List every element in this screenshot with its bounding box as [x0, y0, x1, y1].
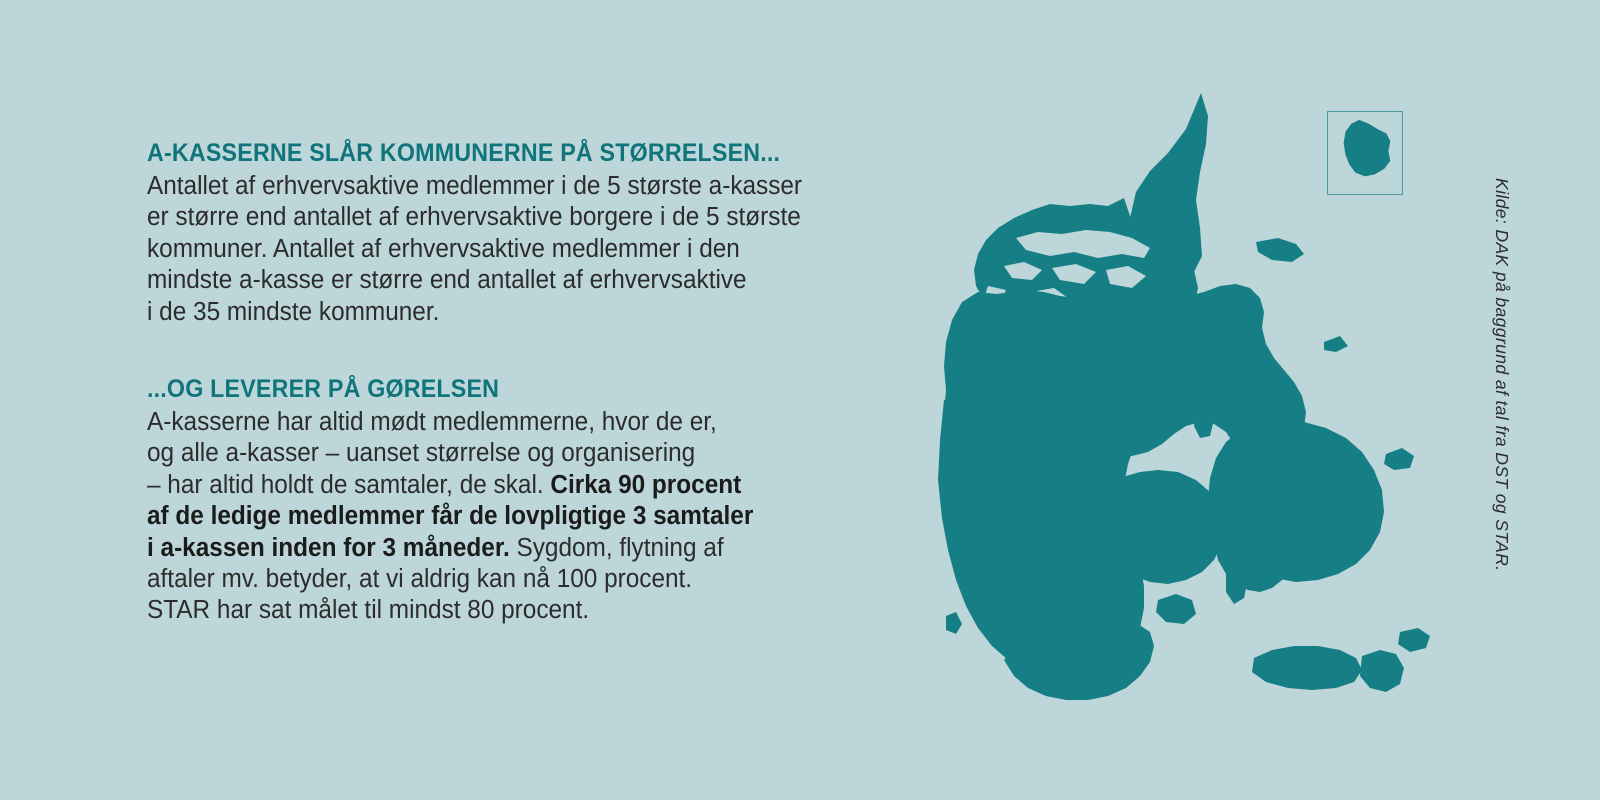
emphasis-phrase-3: i a-kassen inden for 3 måneder. — [147, 534, 510, 562]
text-column: A-KASSERNE SLÅR KOMMUNERNE PÅ STØRRELSEN… — [147, 140, 907, 627]
paragraph-1-line-5: i de 35 mindste kommuner. — [147, 297, 916, 328]
emphasis-phrase-2: af de ledige medlemmer får de lovpligtig… — [147, 502, 753, 530]
source-note: Kilde: DAK på baggrund af tal fra DST og… — [1491, 178, 1512, 618]
infographic-canvas: A-KASSERNE SLÅR KOMMUNERNE PÅ STØRRELSEN… — [0, 0, 1600, 800]
emphasis-phrase-1: Cirka 90 procent — [550, 471, 741, 499]
bornholm-inset — [1327, 111, 1403, 195]
text-block-1: A-KASSERNE SLÅR KOMMUNERNE PÅ STØRRELSEN… — [147, 140, 907, 328]
paragraph-2-line-3-plain: – har altid holdt de samtaler, de skal. — [147, 471, 550, 499]
paragraph-2-line-3: – har altid holdt de samtaler, de skal. … — [147, 470, 916, 501]
paragraph-2-line-1: A-kasserne har altid mødt medlemmerne, h… — [147, 407, 916, 438]
paragraph-2-line-7: STAR har sat målet til mindst 80 procent… — [147, 595, 916, 626]
paragraph-1-line-1: Antallet af erhvervsaktive medlemmer i d… — [147, 171, 916, 202]
paragraph-2-line-6: aftaler mv. betyder, at vi aldrig kan nå… — [147, 564, 916, 595]
paragraph-1-line-4: mindste a-kasse er større end antallet a… — [147, 265, 916, 296]
paragraph-2-line-2: og alle a-kasser – uanset størrelse og o… — [147, 438, 916, 469]
paragraph-2: A-kasserne har altid mødt medlemmerne, h… — [147, 407, 916, 627]
paragraph-1: Antallet af erhvervsaktive medlemmer i d… — [147, 171, 916, 328]
text-block-2: ...OG LEVERER PÅ GØRELSEN A-kasserne har… — [147, 376, 907, 627]
heading-1: A-KASSERNE SLÅR KOMMUNERNE PÅ STØRRELSEN… — [147, 140, 854, 167]
paragraph-2-line-4: af de ledige medlemmer får de lovpligtig… — [147, 501, 916, 532]
paragraph-2-line-5: i a-kassen inden for 3 måneder. Sygdom, … — [147, 533, 916, 564]
heading-2: ...OG LEVERER PÅ GØRELSEN — [147, 376, 854, 403]
paragraph-1-line-2: er større end antallet af erhvervsaktive… — [147, 202, 916, 233]
paragraph-1-line-3: kommuner. Antallet af erhvervsaktive med… — [147, 234, 916, 265]
paragraph-2-line-5-plain: Sygdom, flytning af — [510, 534, 724, 562]
